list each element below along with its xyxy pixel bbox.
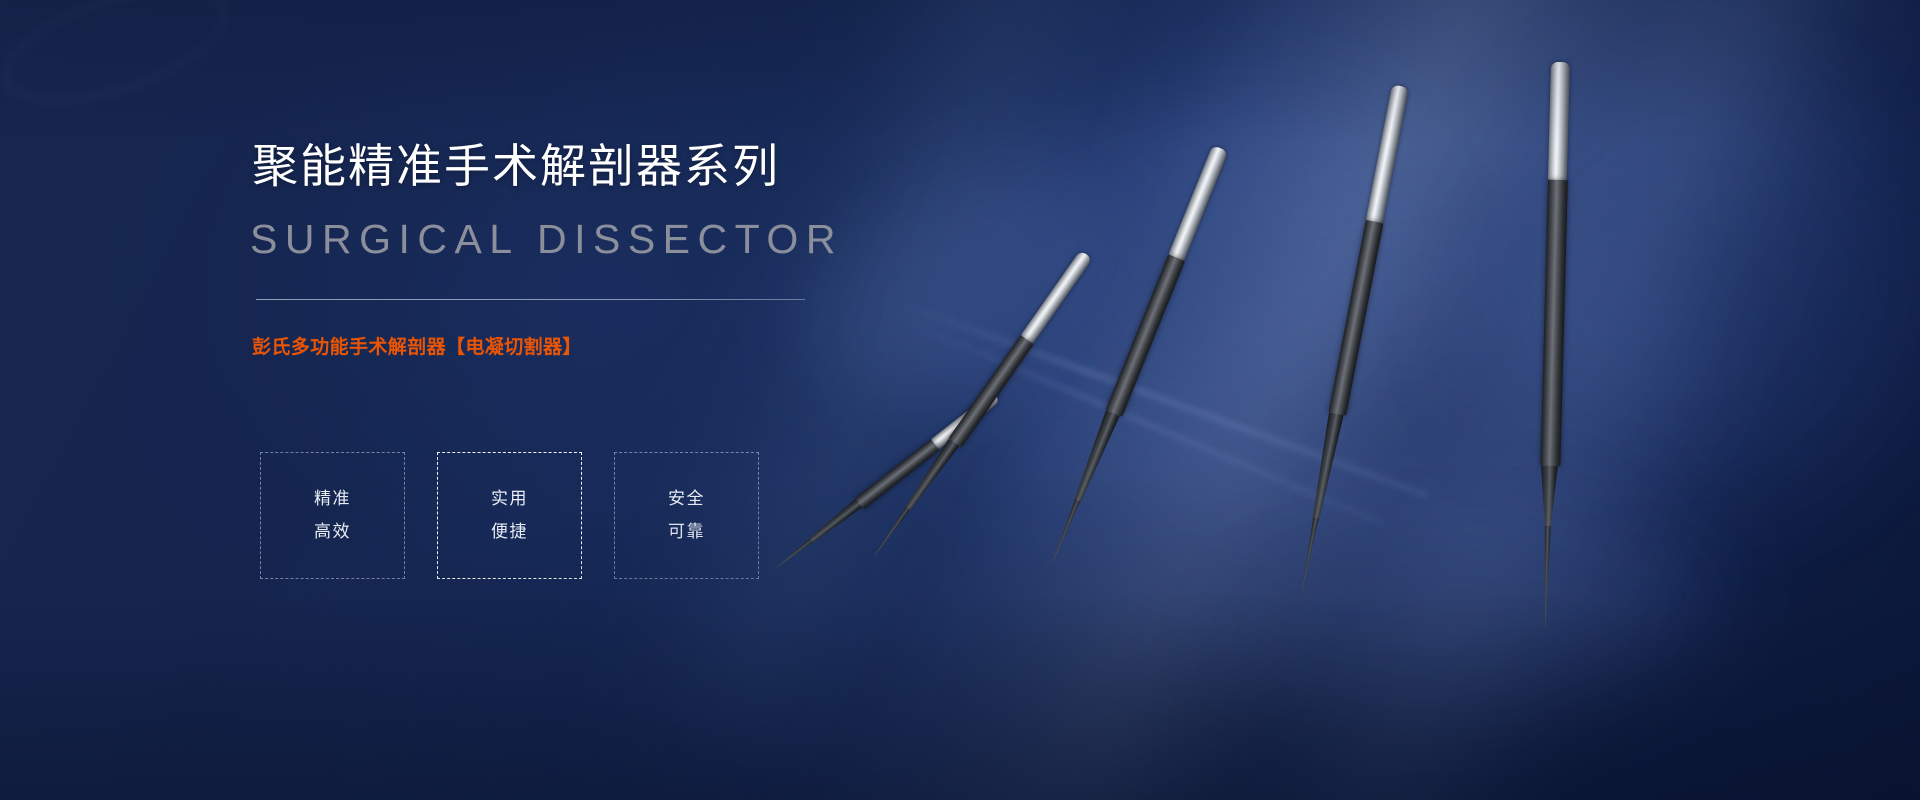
dissector-handle-icon: [1366, 84, 1409, 223]
page-subtitle-english: SURGICAL DISSECTOR: [250, 217, 843, 262]
dissector-handle-icon: [1168, 145, 1228, 261]
dissector-handle-icon: [1021, 250, 1093, 344]
dissector-taper-icon: [1070, 410, 1120, 505]
dissector-tip-icon: [1299, 517, 1319, 591]
product-image-group: [1130, 0, 1920, 800]
feature-box-line-2: 可靠: [668, 519, 705, 545]
dissector-tip-icon: [776, 538, 814, 569]
hero-banner: 聚能精准手术解剖器系列 SURGICAL DISSECTOR 彭氏多功能手术解剖…: [0, 0, 1920, 800]
title-divider: [256, 299, 805, 300]
dissector-shaft-icon: [1540, 180, 1567, 466]
background-hand-silhouette: [0, 0, 238, 123]
dissector-taper-icon: [1308, 412, 1343, 521]
product-tagline: 彭氏多功能手术解剖器【电凝切割器】: [252, 337, 582, 360]
feature-box-precision[interactable]: 精准 高效: [260, 452, 405, 579]
dissector-taper-icon: [1539, 466, 1558, 528]
dissector-handle-icon: [1548, 62, 1570, 180]
feature-box-line-1: 实用: [491, 486, 528, 512]
feature-box-line-2: 便捷: [491, 519, 528, 545]
feature-box-safety[interactable]: 安全 可靠: [614, 452, 759, 579]
dissector-taper-icon: [807, 499, 863, 546]
dissector-tip-icon: [1542, 526, 1551, 630]
feature-box-line-1: 精准: [314, 486, 351, 512]
dissector-shaft-icon: [1328, 220, 1383, 416]
page-title: 聚能精准手术解剖器系列: [252, 140, 780, 193]
dissector-tip-icon: [1050, 499, 1081, 564]
feature-box-line-1: 安全: [668, 486, 705, 512]
feature-box-line-2: 高效: [314, 519, 351, 545]
feature-box-practical[interactable]: 实用 便捷: [437, 452, 582, 579]
light-streak-tertiary: [614, 0, 1166, 797]
dissector-tip-icon: [873, 506, 911, 556]
dissector-shaft-icon: [1105, 254, 1185, 417]
dissector-shaft-icon: [948, 335, 1033, 447]
feature-box-list: 精准 高效 实用 便捷 安全 可靠: [260, 452, 759, 579]
background-blur-shape: [764, 122, 1147, 439]
